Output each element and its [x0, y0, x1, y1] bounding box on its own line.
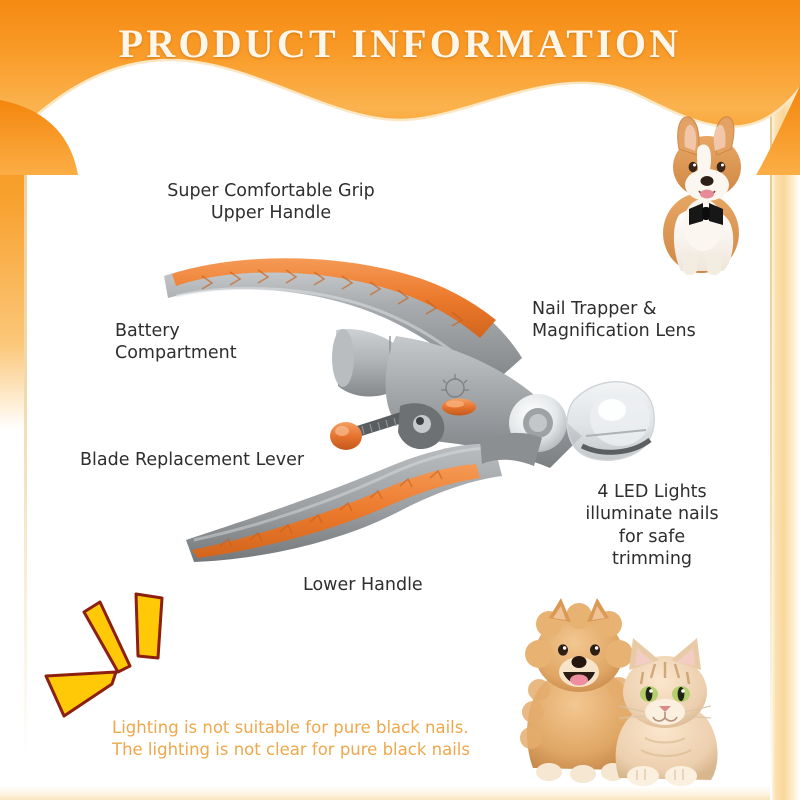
nail-trapper-lens: [567, 382, 654, 461]
infographic-page: PRODUCT INFORMATION: [0, 0, 800, 800]
label-upper-handle: Super Comfortable Grip Upper Handle: [163, 180, 379, 225]
spark-wedge-bottom: [46, 672, 116, 716]
spark-burst: [40, 580, 190, 720]
label-nail-trapper: Nail Trapper & Magnification Lens: [532, 298, 696, 343]
page-title: PRODUCT INFORMATION: [0, 20, 800, 67]
label-blade-lever: Blade Replacement Lever: [80, 449, 304, 471]
blade-replacement-lever[interactable]: [330, 418, 400, 450]
lower-grip-pad: [192, 464, 480, 558]
tabby-cat: [616, 638, 718, 786]
lower-arm-link: [480, 433, 542, 466]
label-lower-handle: Lower Handle: [303, 574, 423, 596]
spark-wedge-mid: [84, 602, 130, 672]
label-battery: Battery Compartment: [115, 320, 237, 365]
warning-text: Lighting is not suitable for pure black …: [112, 717, 470, 762]
label-led-lights: 4 LED Lights illuminate nails for safe t…: [576, 481, 728, 571]
pomeranian-and-cat-photo: [515, 592, 745, 792]
lever-knob: [330, 422, 362, 450]
battery-cap: [332, 329, 354, 387]
spark-wedge-top: [136, 594, 162, 658]
left-border-line: [24, 120, 27, 760]
